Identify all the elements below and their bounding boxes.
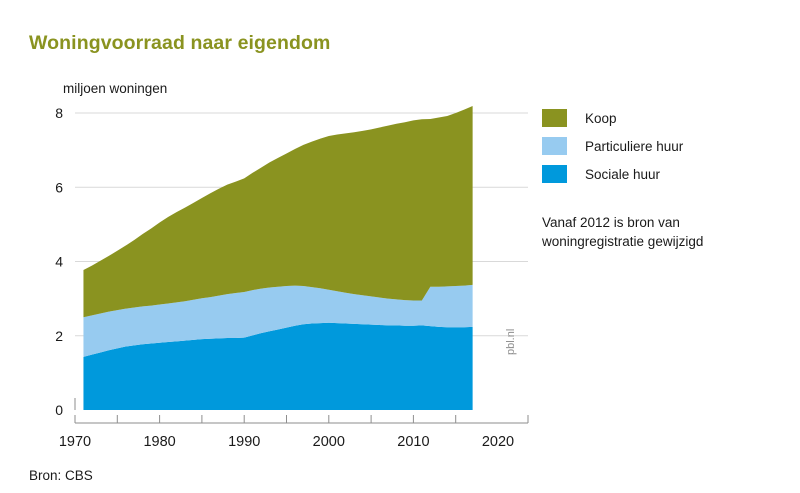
legend-swatch-sociale-huur [542,165,567,183]
x-tick-label-2020: 2020 [482,434,514,450]
area-koop [83,106,472,317]
legend-label-sociale-huur: Sociale huur [585,167,660,182]
legend-label-particuliere-huur: Particuliere huur [585,139,683,154]
source-change-note-line-2: woningregistratie gewijzigd [542,232,782,251]
y-tick-label-8: 8 [55,105,63,121]
x-tick-label-2010: 2010 [397,434,429,450]
legend-item-particuliere-huur[interactable]: Particuliere huur [542,132,792,160]
y-tick-label-2: 2 [55,328,63,344]
y-tick-label-6: 6 [55,179,63,195]
legend: Koop Particuliere huur Sociale huur [542,104,792,188]
x-tick-label-1970: 1970 [59,434,91,450]
chart-page: Woningvoorraad naar eigendom miljoen won… [0,0,800,493]
x-tick-label-1990: 1990 [228,434,260,450]
legend-item-sociale-huur[interactable]: Sociale huur [542,160,792,188]
legend-swatch-particuliere-huur [542,137,567,155]
pbl-watermark: pbl.nl [505,329,517,355]
source-change-note-line-1: Vanaf 2012 is bron van [542,213,782,232]
x-tick-labels-group: 197019801990200020102020 [59,434,514,450]
source-note: Bron: CBS [29,468,93,483]
y-tick-label-0: 0 [55,402,63,418]
y-tick-labels-group: 02468 [55,105,63,418]
source-change-note: Vanaf 2012 is bron van woningregistratie… [542,213,782,251]
x-tick-label-1980: 1980 [143,434,175,450]
tick-marks-group [117,415,455,423]
legend-label-koop: Koop [585,111,617,126]
legend-swatch-koop [542,109,567,127]
x-tick-label-2000: 2000 [313,434,345,450]
y-tick-label-4: 4 [55,254,63,270]
stacked-areas-group [83,106,472,410]
legend-item-koop[interactable]: Koop [542,104,792,132]
